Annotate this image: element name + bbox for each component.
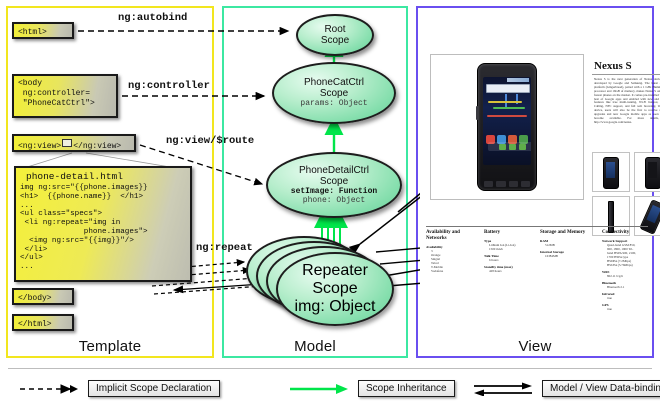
code-body-open: <body ng:controller= "PhoneCatCtrl"> [12,74,118,118]
panel-label-model: Model [222,338,408,355]
phone-button-back [484,181,493,187]
phone-search-box [486,84,530,93]
legend-solid-green-arrow-icon [288,382,350,396]
spec-value-standby-0: 428 hours [484,269,536,273]
scope-phonecatctrl-name-line2: Scope [320,88,348,99]
ngview-open-tag: <ng:view> [18,142,61,151]
phone-screen [483,77,531,165]
scope-repeater-name-line1: Repeater [302,262,368,280]
phone-widget-line-2 [493,107,525,109]
scope-repeater-member-img: img: Object [295,298,376,316]
spec-table-divider [426,226,648,227]
scope-phonedetailctrl: PhoneDetailCtrl Scope setImage: Function… [266,152,402,218]
legend: Implicit Scope Declaration Scope Inherit… [0,366,660,420]
scope-phonedetailctrl-member-phone: phone: Object [303,196,365,206]
scope-phonecatctrl-name-line1: PhoneCatCtrl [304,77,364,88]
spec-value-wifi-0: 802.11 b/g/n [602,274,654,278]
dock-icon-1 [499,144,506,150]
spec-value-battery-type-1: 1500 mAh [484,247,536,251]
scope-repeater-name-line2: Scope [312,280,357,298]
spec-value-ram-0: 512MB [540,243,600,247]
scope-root: Root Scope [296,14,374,56]
label-ng-autobind: ng:autobind [118,12,187,24]
spec-value-internal-storage-0: 16384MB [540,254,600,258]
scope-phonecatctrl: PhoneCatCtrl Scope params: Object [272,62,396,124]
scope-phonedetailctrl-name-line2: Scope [320,176,348,187]
label-ng-repeat: ng:repeat [196,242,253,254]
phone-widget-line-1 [488,101,522,103]
spec-column-storage: Storage and Memory RAM 512MB Internal St… [540,230,600,258]
legend-double-arrow-icon [472,382,534,396]
spec-value-gps-0: true [602,307,654,311]
label-ng-controller: ng:controller [128,80,210,92]
spec-value-network-5: HSUPA (5.76Mbps) [602,263,654,267]
dock-icon-3 [519,144,526,150]
phone-detail-code: img ng:src="{{phone.images}} <h1> {{phon… [16,184,190,272]
phone-side-button-icon [476,106,479,120]
spec-header-battery: Battery [484,230,536,236]
scope-phonedetailctrl-name-line1: PhoneDetailCtrl [299,165,369,176]
phone-widget-line-3 [487,115,527,117]
phone-detail-filename: phone-detail.html [16,168,190,184]
view-rendered-page: Nexus S Nexus S is the next generation o… [420,10,650,338]
view-title-divider [592,74,660,75]
code-body-close: </body> [12,288,74,305]
scope-phonecatctrl-member-params: params: Object [300,99,367,109]
spec-header-availability: Availability and Networks [426,230,478,242]
panel-label-view: View [416,338,654,355]
spec-value-bluetooth-0: Bluetooth 2.1 [602,285,654,289]
phone-dock [488,142,531,151]
phone-hardware-buttons [484,181,530,187]
legend-label-scope-inheritance: Scope Inheritance [358,380,455,397]
spec-column-connectivity: Connectivity Network Support Quad-band G… [602,230,654,311]
code-html-open: <html> [12,22,74,39]
spec-header-connectivity: Connectivity [602,230,654,236]
repeater-scope-front: Repeater Scope img: Object [276,252,394,326]
phone-device-illustration [477,63,537,191]
thumbnail-phone-back[interactable] [634,152,660,192]
spec-column-battery: Battery Type Lithium Ion (Li-Ion) 1500 m… [484,230,536,273]
spec-header-storage: Storage and Memory [540,230,600,236]
ngview-placeholder-icon [62,139,72,147]
scope-repeater-stack: Repeater Scope img: Object [246,236,394,328]
panel-label-template: Template [6,338,214,355]
spec-value-infrared-0: true [602,296,654,300]
scope-root-name-line1: Root [324,24,345,35]
spec-column-availability: Availability and Networks Availability 3… [426,230,478,273]
thumb-phone-front-icon [603,157,619,189]
code-phone-detail-callout: phone-detail.html img ng:src="{{phone.im… [14,166,192,282]
phone-button-menu [496,181,505,187]
legend-dashed-arrow-icon [18,382,80,396]
label-ng-view-route: ng:view/$route [166,135,254,147]
view-spec-table: Availability and Networks Availability 3… [426,226,648,338]
diagram-canvas: <html> <body ng:controller= "PhoneCatCtr… [0,0,660,420]
legend-item-implicit-scope: Implicit Scope Declaration [18,380,220,397]
view-page-title: Nexus S [594,60,632,72]
code-ngview: <ng:view></ng:view> [12,134,136,152]
scope-phonedetailctrl-member-setimage: setImage: Function [291,187,377,197]
phone-statusbar [507,78,529,82]
spec-value-talk-time-0: 6 hours [484,258,536,262]
phone-button-search [521,181,530,187]
phone-button-home [509,181,518,187]
legend-item-scope-inheritance: Scope Inheritance [288,380,455,397]
spec-value-availability-5: Vodafone [426,269,478,273]
code-html-close: </html> [12,314,74,331]
legend-item-data-binding: Model / View Data-binding [472,380,660,397]
phone-hero-image [430,54,584,200]
thumbnail-phone-front[interactable] [592,152,630,192]
scope-root-name-line2: Scope [321,35,349,46]
view-page-description: Nexus S is the next generation of Nexus … [594,78,660,125]
legend-label-implicit-scope: Implicit Scope Declaration [88,380,220,397]
legend-label-data-binding: Model / View Data-binding [542,380,660,397]
ngview-close-tag: </ng:view> [73,142,121,151]
dock-icon-2 [509,144,516,150]
thumb-phone-back-icon [645,157,660,189]
legend-divider [8,368,652,369]
